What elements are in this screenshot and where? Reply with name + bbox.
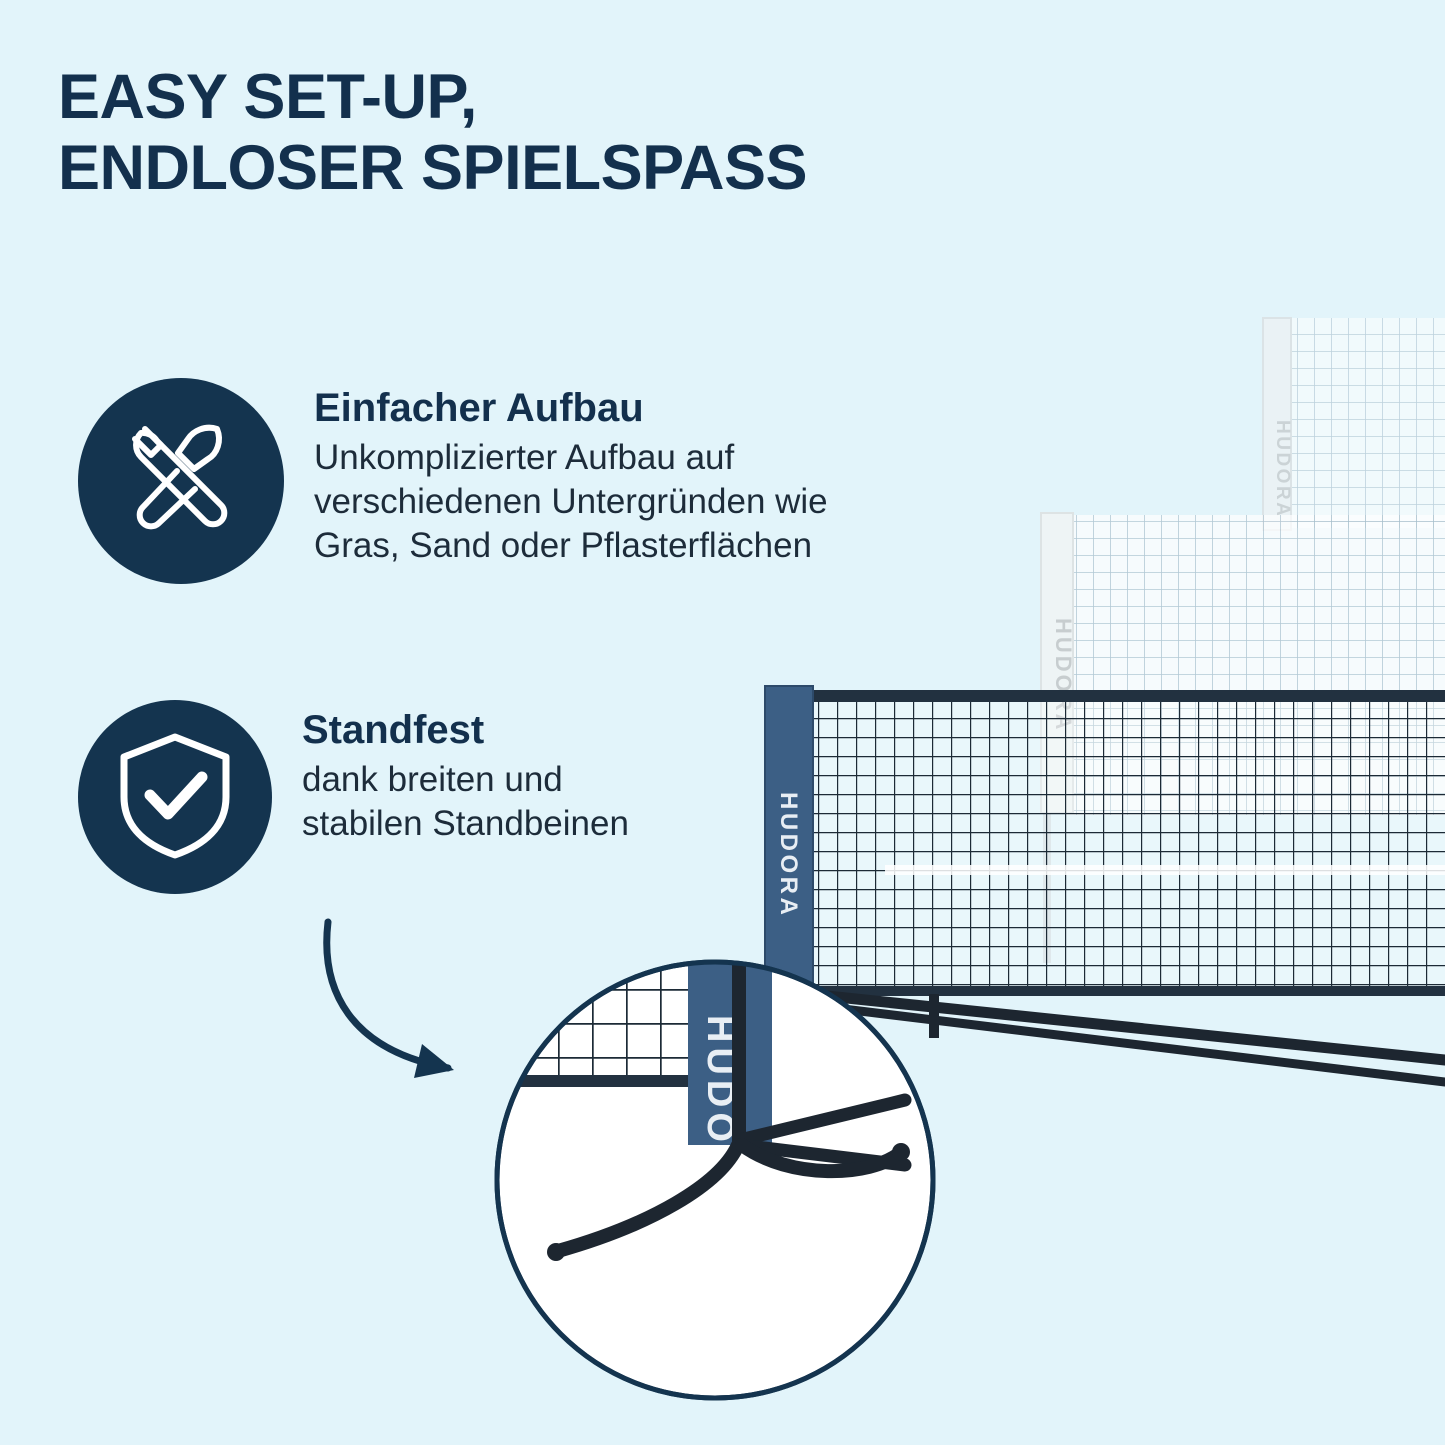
feature-body: dank breiten und stabilen Standbeinen	[302, 758, 629, 846]
feature-body-line-1: Unkomplizierter Aufbau auf	[314, 436, 828, 480]
brand-label-back: HUDORA	[1272, 420, 1293, 518]
promo-graphic: HUDORA HUDORA	[0, 0, 1445, 1445]
zoom-detail-bubble: HUDO	[490, 955, 940, 1405]
feature-text: Einfacher Aufbau Unkomplizierter Aufbau …	[314, 378, 828, 567]
headline: EASY SET-UP, ENDLOSER SPIELSPASS	[58, 62, 1158, 203]
tools-icon	[115, 413, 247, 550]
headline-line-2: ENDLOSER SPIELSPASS	[58, 133, 1158, 204]
feature-title: Standfest	[302, 706, 629, 754]
brand-label-front: HUDORA	[775, 792, 802, 918]
net-back: HUDORA	[1263, 318, 1445, 530]
feature-einfacher-aufbau: Einfacher Aufbau Unkomplizierter Aufbau …	[78, 378, 828, 584]
feature-text: Standfest dank breiten und stabilen Stan…	[302, 700, 629, 846]
feature-body: Unkomplizierter Aufbau auf verschiedenen…	[314, 436, 828, 567]
feature-body-line-3: Gras, Sand oder Pflasterflächen	[314, 524, 828, 568]
feature-icon-badge	[78, 378, 284, 584]
feature-body-line-1: dank breiten und	[302, 758, 629, 802]
feature-title: Einfacher Aufbau	[314, 384, 828, 432]
shield-check-icon	[116, 731, 234, 864]
headline-line-1: EASY SET-UP,	[58, 62, 1158, 133]
feature-standfest: Standfest dank breiten und stabilen Stan…	[78, 700, 629, 894]
curved-arrow-icon	[310, 910, 510, 1100]
feature-icon-badge	[78, 700, 272, 894]
feature-body-line-2: verschiedenen Untergründen wie	[314, 480, 828, 524]
feature-body-line-2: stabilen Standbeinen	[302, 802, 629, 846]
